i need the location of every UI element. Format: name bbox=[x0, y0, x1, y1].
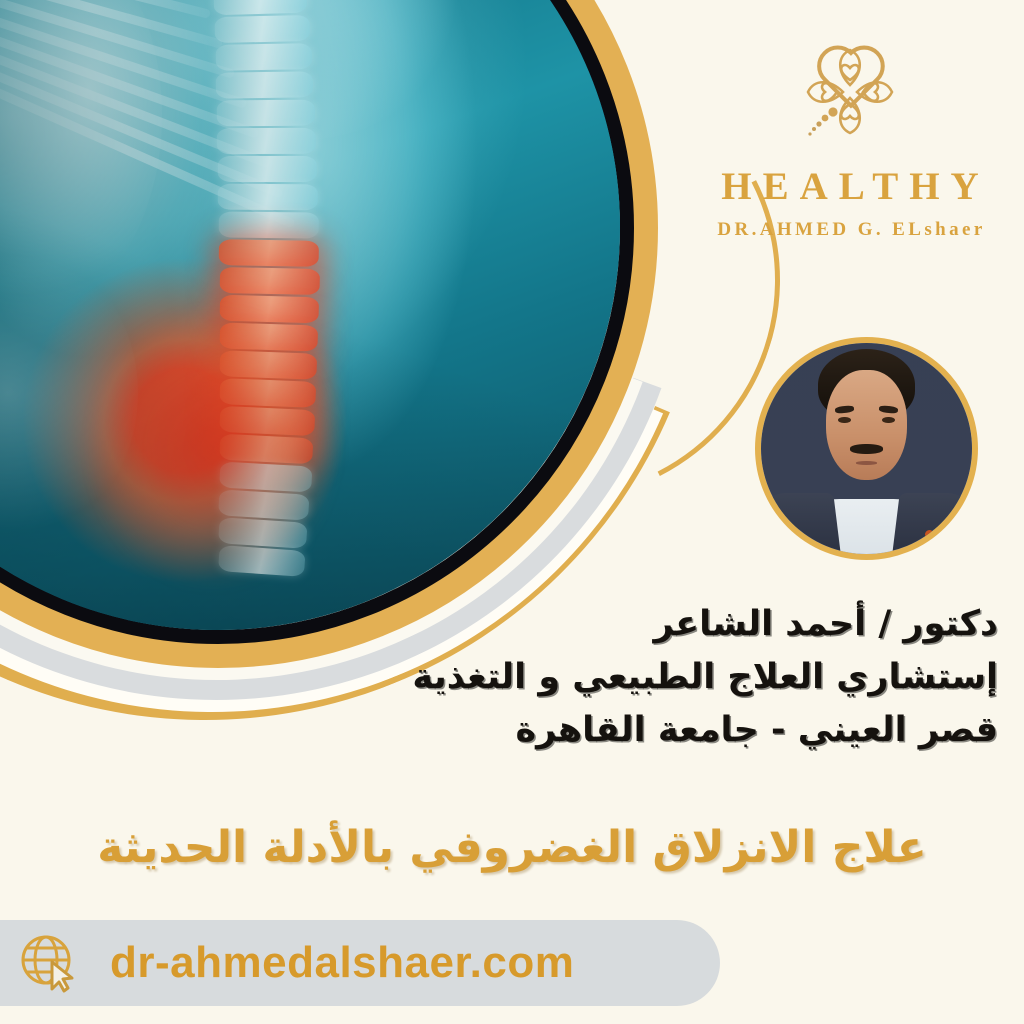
avatar bbox=[755, 337, 978, 560]
doctor-ahmed-elshaer-portrait bbox=[761, 343, 972, 554]
credential-line-role: إستشاري العلاج الطبيعي و التغذية bbox=[238, 651, 998, 704]
credential-line-school: قصر العيني - جامعة القاهرة bbox=[238, 704, 998, 757]
brand-name: HEALTHY bbox=[700, 164, 1000, 209]
globe-cursor-icon bbox=[18, 932, 80, 994]
brand-subtitle: DR.AHMED G. ELshaer bbox=[700, 219, 1000, 241]
four-heart-clover-icon bbox=[700, 30, 1000, 160]
doctor-credentials: دكتور / أحمد الشاعر إستشاري العلاج الطبي… bbox=[238, 598, 998, 757]
brand-block: HEALTHY DR.AHMED G. ELshaer bbox=[700, 30, 1000, 241]
website-url[interactable]: dr-ahmedalshaer.com bbox=[110, 938, 574, 988]
credential-line-name: دكتور / أحمد الشاعر bbox=[238, 598, 998, 651]
website-bar[interactable]: dr-ahmedalshaer.com bbox=[0, 920, 720, 1006]
poster-canvas: HEALTHY DR.AHMED G. ELshaer دكتور / أحمد… bbox=[0, 0, 1024, 1024]
page-title: علاج الانزلاق الغضروفي بالأدلة الحديثة bbox=[0, 818, 1024, 878]
